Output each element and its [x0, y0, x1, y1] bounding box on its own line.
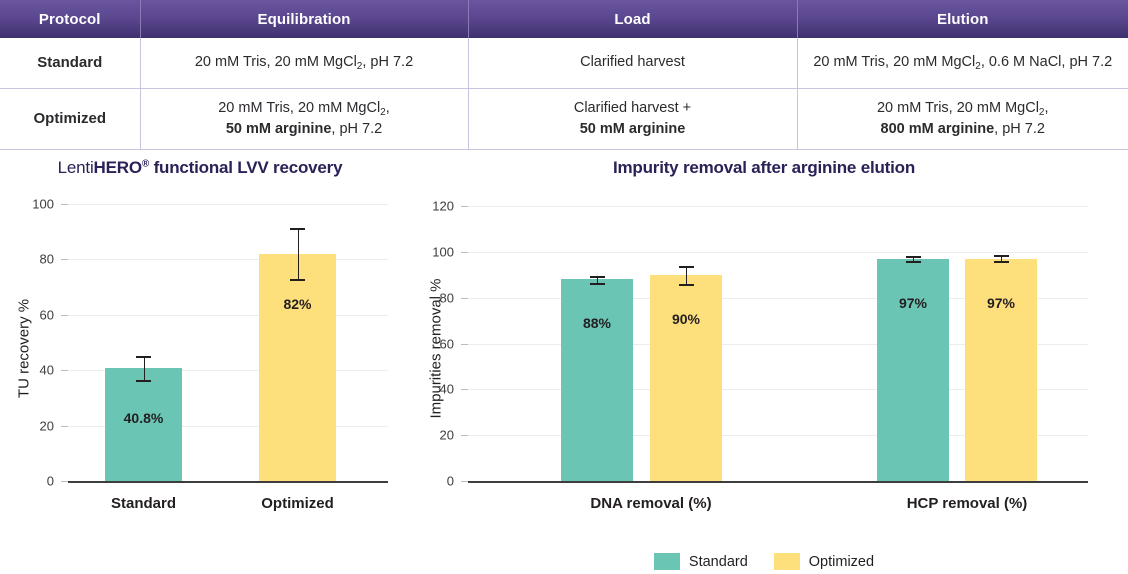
cell-equilibration-optimized: 20 mM Tris, 20 mM MgCl2, 50 mM arginine,… — [140, 89, 468, 150]
y-tick-label: 40 — [420, 382, 454, 397]
subscript: 2 — [975, 61, 981, 72]
y-tick-mark — [461, 435, 468, 436]
text-emphasis: 50 mM arginine — [580, 121, 686, 137]
chart-impurity-removal: Impurity removal after arginine elution … — [400, 150, 1128, 574]
y-tick-mark — [461, 389, 468, 390]
bar-value-label: 97% — [965, 295, 1037, 311]
y-tick-label: 0 — [20, 474, 54, 489]
protocol-table: Protocol Equilibration Load Elution Stan… — [0, 0, 1128, 150]
table-header-row: Protocol Equilibration Load Elution — [0, 0, 1128, 38]
y-tick-label: 80 — [420, 290, 454, 305]
legend-label: Optimized — [809, 554, 874, 570]
bar-hcp-standard: 97% — [877, 259, 949, 481]
y-tick-mark — [461, 252, 468, 253]
text-part: 20 mM Tris, 20 mM MgCl — [195, 54, 357, 70]
plot-area-left: 02040608010040.8%82%StandardOptimized — [68, 204, 388, 483]
y-tick-mark — [461, 481, 468, 482]
bar-standard: 40.8% — [105, 368, 182, 481]
y-tick-label: 20 — [420, 428, 454, 443]
bar-value-label: 82% — [259, 296, 336, 312]
cell-protocol-standard: Standard — [0, 38, 140, 89]
error-bar-line — [144, 356, 145, 380]
text-part: , pH 7.2 — [331, 121, 382, 137]
text-part: 20 mM Tris, 20 mM MgCl — [813, 54, 975, 70]
y-tick-label: 60 — [420, 336, 454, 351]
col-header-equilibration: Equilibration — [140, 0, 468, 38]
y-tick-label: 20 — [20, 418, 54, 433]
error-bar-cap-bottom — [906, 261, 921, 263]
gridline — [468, 206, 1088, 207]
y-tick-label: 80 — [20, 252, 54, 267]
gridline — [68, 204, 388, 205]
bar-hcp-optimized: 97% — [965, 259, 1037, 481]
y-tick-label: 0 — [420, 474, 454, 489]
bar-dna-optimized: 90% — [650, 275, 722, 481]
cell-elution-optimized: 20 mM Tris, 20 mM MgCl2, 800 mM arginine… — [797, 89, 1128, 150]
error-bar-line — [298, 228, 299, 279]
y-tick-mark — [461, 298, 468, 299]
bar-value-label: 40.8% — [105, 410, 182, 426]
text-emphasis: 800 mM arginine — [881, 121, 995, 137]
y-tick-mark — [461, 344, 468, 345]
error-bar-cap-top — [590, 276, 605, 278]
table-row: Optimized 20 mM Tris, 20 mM MgCl2, 50 mM… — [0, 89, 1128, 150]
table-row: Standard 20 mM Tris, 20 mM MgCl2, pH 7.2… — [0, 38, 1128, 89]
y-tick-mark — [61, 370, 68, 371]
text-part: , pH 7.2 — [362, 54, 413, 70]
bar-value-label: 90% — [650, 311, 722, 327]
bar-value-label: 88% — [561, 315, 633, 331]
registered-icon: ® — [142, 158, 149, 169]
charts-region: LentiHERO® functional LVV recovery TU re… — [0, 150, 1128, 574]
y-tick-mark — [61, 259, 68, 260]
legend-item-standard[interactable]: Standard — [654, 553, 748, 570]
x-axis-label: HCP removal (%) — [907, 495, 1028, 512]
legend-swatch-icon — [654, 553, 680, 570]
gridline — [68, 315, 388, 316]
text-emphasis: 50 mM arginine — [226, 121, 332, 137]
x-axis-label: DNA removal (%) — [590, 495, 711, 512]
y-axis-label-left: TU recovery % — [16, 279, 33, 419]
title-part: Lenti — [58, 158, 94, 177]
error-bar-cap-bottom — [136, 380, 151, 382]
y-tick-mark — [61, 315, 68, 316]
col-header-protocol: Protocol — [0, 0, 140, 38]
text-part: 20 mM Tris, 20 mM MgCl — [218, 100, 380, 116]
x-axis-label: Optimized — [261, 495, 334, 512]
error-bar-cap-top — [290, 228, 305, 230]
x-axis-label: Standard — [111, 495, 176, 512]
error-bar-cap-bottom — [290, 279, 305, 281]
bar-optimized: 82% — [259, 254, 336, 481]
error-bar-cap-top — [679, 266, 694, 268]
gridline — [468, 252, 1088, 253]
y-tick-label: 60 — [20, 307, 54, 322]
y-tick-label: 120 — [420, 199, 454, 214]
bar-dna-standard: 88% — [561, 279, 633, 481]
y-tick-mark — [61, 481, 68, 482]
chart-lentihero-recovery: LentiHERO® functional LVV recovery TU re… — [0, 150, 400, 574]
error-bar-line — [686, 266, 687, 284]
chart-legend: StandardOptimized — [400, 553, 1128, 570]
gridline — [68, 259, 388, 260]
text-part: , 0.6 M NaCl, pH 7.2 — [981, 54, 1112, 70]
title-part: HERO — [94, 158, 142, 177]
y-tick-label: 100 — [420, 244, 454, 259]
legend-swatch-icon — [774, 553, 800, 570]
cell-protocol-optimized: Optimized — [0, 89, 140, 150]
text-part: 20 mM Tris, 20 mM MgCl — [877, 100, 1039, 116]
col-header-elution: Elution — [797, 0, 1128, 38]
y-tick-label: 100 — [20, 197, 54, 212]
y-tick-label: 40 — [20, 363, 54, 378]
cell-elution-standard: 20 mM Tris, 20 mM MgCl2, 0.6 M NaCl, pH … — [797, 38, 1128, 89]
subscript: 2 — [357, 61, 363, 72]
subscript: 2 — [380, 107, 386, 118]
plot-area-right: 02040608010012088%90%97%97%DNA removal (… — [468, 206, 1088, 483]
error-bar-cap-top — [906, 256, 921, 258]
error-bar-cap-bottom — [590, 283, 605, 285]
title-part: functional LVV recovery — [149, 158, 342, 177]
text-part: Clarified harvest + — [574, 100, 691, 116]
legend-label: Standard — [689, 554, 748, 570]
cell-load-standard: Clarified harvest — [468, 38, 797, 89]
error-bar-cap-bottom — [994, 261, 1009, 263]
subscript: 2 — [1039, 107, 1045, 118]
chart-title-left: LentiHERO® functional LVV recovery — [0, 158, 400, 178]
cell-load-optimized: Clarified harvest + 50 mM arginine — [468, 89, 797, 150]
y-tick-mark — [61, 204, 68, 205]
error-bar-cap-top — [994, 255, 1009, 257]
error-bar-cap-bottom — [679, 284, 694, 286]
text-part: , — [1044, 100, 1048, 116]
legend-item-optimized[interactable]: Optimized — [774, 553, 874, 570]
error-bar-cap-top — [136, 356, 151, 358]
text-part: , — [386, 100, 390, 116]
chart-title-right: Impurity removal after arginine elution — [400, 158, 1128, 178]
y-tick-mark — [461, 206, 468, 207]
cell-equilibration-standard: 20 mM Tris, 20 mM MgCl2, pH 7.2 — [140, 38, 468, 89]
col-header-load: Load — [468, 0, 797, 38]
bar-value-label: 97% — [877, 295, 949, 311]
y-tick-mark — [61, 426, 68, 427]
text-part: , pH 7.2 — [994, 121, 1045, 137]
